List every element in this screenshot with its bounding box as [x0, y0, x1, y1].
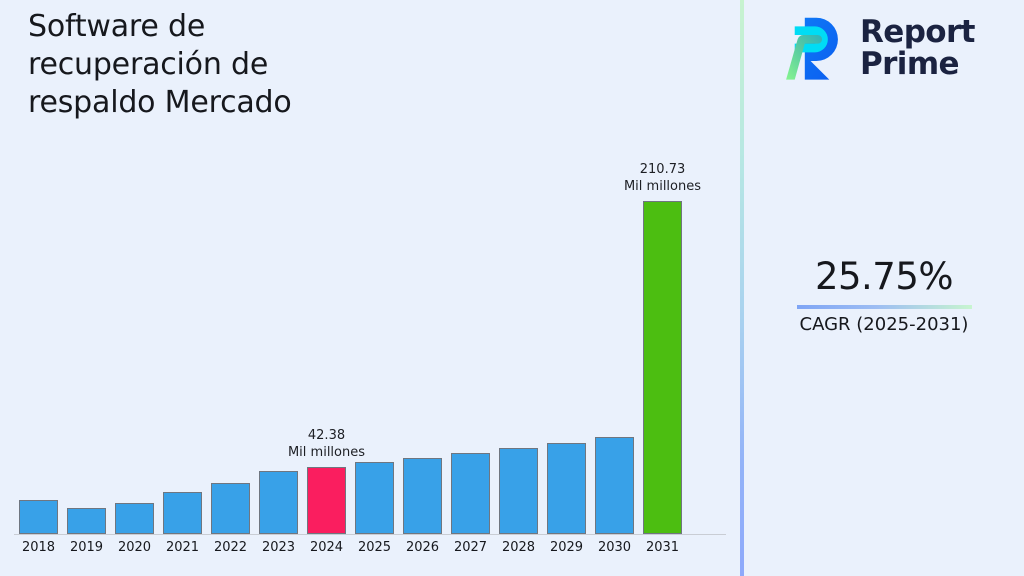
bar-annotation-2024: 42.38 Mil millones	[262, 427, 392, 461]
bar-2022	[211, 483, 250, 534]
bar-2024	[307, 467, 346, 534]
report-prime-r-logo-icon	[776, 12, 848, 84]
bar-2026	[403, 458, 442, 534]
bar-annotation-2031: 210.73 Mil millones	[598, 161, 728, 195]
bar-2028	[499, 448, 538, 534]
cagr-value: 25.75%	[752, 255, 1016, 299]
bar-2018	[19, 500, 58, 534]
infographic-root: Software de recuperación de respaldo Mer…	[0, 0, 1024, 576]
bar-2023	[259, 471, 298, 534]
right-panel: Report Prime 25.75% CAGR (2025-2031)	[744, 0, 1024, 576]
brand-logo: Report Prime	[776, 12, 975, 84]
bar-2030	[595, 437, 634, 534]
bar-chart: 42.38 Mil millones210.73 Mil millones 20…	[0, 0, 740, 576]
brand-name: Report Prime	[860, 16, 975, 80]
bar-2019	[67, 508, 106, 534]
bar-2027	[451, 453, 490, 534]
bar-2025	[355, 462, 394, 534]
x-tick-2031: 2031	[633, 540, 693, 555]
cagr-divider-rule	[797, 305, 972, 309]
x-axis-line	[14, 534, 726, 535]
bar-2029	[547, 443, 586, 534]
cagr-block: 25.75% CAGR (2025-2031)	[752, 255, 1016, 336]
bar-2031	[643, 201, 682, 534]
bar-2021	[163, 492, 202, 534]
bar-2020	[115, 503, 154, 534]
cagr-caption: CAGR (2025-2031)	[752, 314, 1016, 336]
